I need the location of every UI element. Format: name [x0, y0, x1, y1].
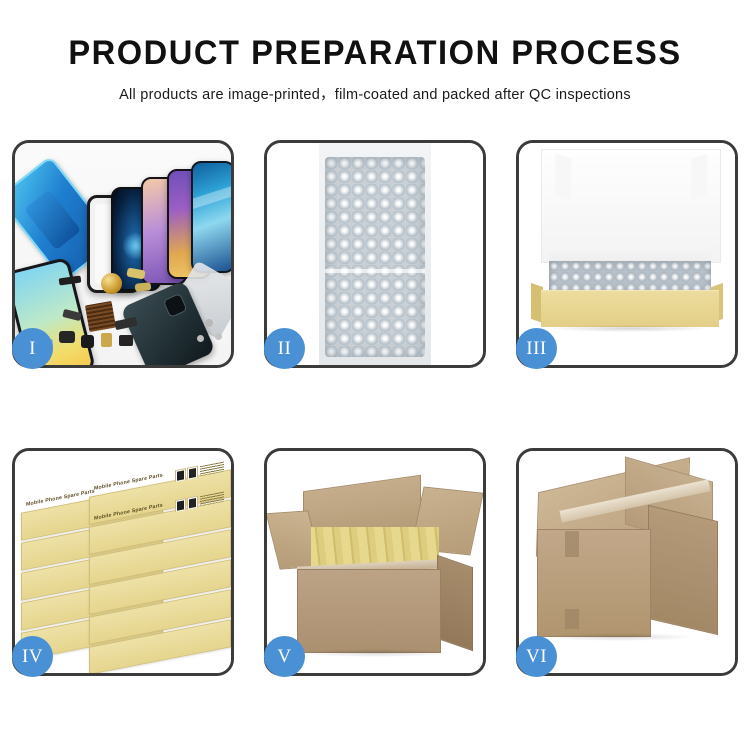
carton-side-panel: [437, 555, 473, 651]
screw-icon: [197, 335, 204, 342]
steps-grid: I II: [12, 140, 738, 676]
phone-screen-icon: [191, 161, 231, 273]
flex-cable-icon: [135, 282, 152, 292]
step-image-2: [267, 143, 483, 365]
product-preparation-infographic: PRODUCT PREPARATION PROCESS All products…: [0, 0, 750, 750]
drop-shadow: [549, 325, 709, 332]
speaker-coil-icon: [101, 273, 122, 294]
step-image-5: [267, 451, 483, 673]
spare-part-icon: [59, 331, 75, 343]
bubble-wrapped-product-icon: [549, 261, 711, 293]
wrap-seam: [325, 269, 425, 273]
step-image-1: [15, 143, 231, 365]
step-badge-5: V: [264, 636, 305, 677]
drop-shadow: [545, 633, 695, 641]
box-artwork-icon: [175, 468, 186, 483]
spare-part-icon: [101, 333, 112, 347]
box-spec-lines: [200, 462, 224, 477]
drop-shadow: [303, 649, 449, 657]
carton-front-panel: [297, 569, 441, 653]
box-spec-lines: [200, 492, 224, 507]
box-lid-icon: [541, 149, 721, 263]
box-artwork-icon: [187, 466, 198, 481]
screw-icon: [205, 319, 213, 327]
lid-flap-right: [691, 154, 707, 201]
screw-icon: [215, 333, 222, 340]
carton-seam: [565, 609, 579, 629]
step-panel-1: I: [12, 140, 234, 368]
box-artwork-icon: [175, 498, 186, 513]
spare-part-icon: [81, 335, 94, 348]
bubble-wrap-icon: [319, 143, 431, 365]
carton-front-panel: [537, 529, 651, 637]
carton-side-panel: [648, 505, 718, 635]
carton-seam: [565, 531, 579, 557]
step-badge-2: II: [264, 328, 305, 369]
spare-part-icon: [119, 335, 133, 346]
step-image-3: [519, 143, 735, 365]
lid-flap-left: [555, 154, 571, 201]
chip-grid-icon: [85, 301, 116, 332]
box-artwork-icon: [187, 496, 198, 511]
step-badge-6: VI: [516, 636, 557, 677]
page-title: PRODUCT PREPARATION PROCESS: [15, 0, 735, 72]
page-subtitle: All products are image-printed，film-coat…: [0, 72, 750, 104]
step-panel-4: Mobile Phone Spare Parts Mobile Phone Sp…: [12, 448, 234, 676]
step-panel-2: II: [264, 140, 486, 368]
box-label-text: Mobile Phone Spare Parts: [94, 460, 226, 498]
box-stack-icon: Mobile Phone Spare Parts Mobile Phone Sp…: [21, 465, 231, 671]
bubble-texture: [325, 157, 425, 357]
step-image-6: [519, 451, 735, 673]
step-image-4: Mobile Phone Spare Parts Mobile Phone Sp…: [15, 451, 231, 673]
spare-part-icon: [59, 276, 82, 286]
step-badge-1: I: [12, 328, 53, 369]
step-panel-5: V: [264, 448, 486, 676]
step-panel-3: III: [516, 140, 738, 368]
step-badge-4: IV: [12, 636, 53, 677]
box-front-panel: [541, 290, 719, 327]
header: PRODUCT PREPARATION PROCESS All products…: [0, 0, 750, 104]
step-panel-6: VI: [516, 448, 738, 676]
step-badge-3: III: [516, 328, 557, 369]
